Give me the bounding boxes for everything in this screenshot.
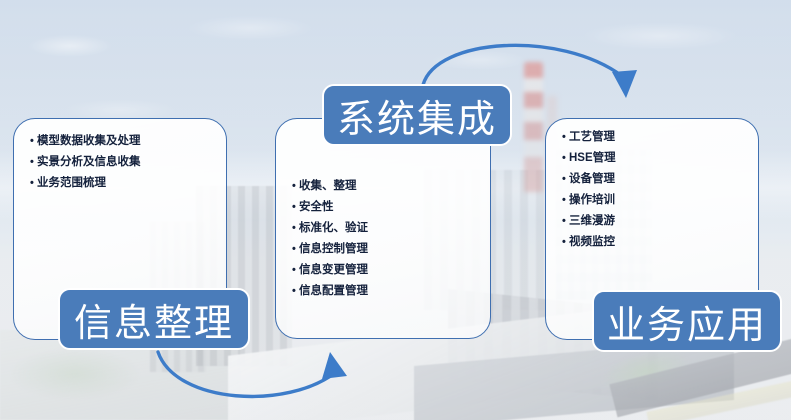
stage-label-business-application[interactable]: 业务应用	[592, 290, 782, 352]
bullet-list-system-integration: 收集、整理 安全性 标准化、验证 信息控制管理 信息变更管理 信息配置管理	[292, 176, 368, 302]
list-item: 视频监控	[562, 232, 616, 253]
list-item: 三维漫游	[562, 211, 616, 232]
bullet-list-information-organization: 模型数据收集及处理 实景分析及信息收集 业务范围梳理	[30, 131, 141, 194]
list-item: 操作培训	[562, 190, 616, 211]
bullet-list-business-application: 工艺管理 HSE管理 设备管理 操作培训 三维漫游 视频监控	[562, 127, 616, 253]
diagram-canvas: 模型数据收集及处理 实景分析及信息收集 业务范围梳理 收集、整理 安全性 标准化…	[0, 0, 791, 420]
stage-label-information-organization[interactable]: 信息整理	[58, 288, 250, 350]
list-item: 安全性	[292, 197, 368, 218]
list-item: 收集、整理	[292, 176, 368, 197]
list-item: 模型数据收集及处理	[30, 131, 141, 152]
list-item: 信息配置管理	[292, 281, 368, 302]
list-item: 工艺管理	[562, 127, 616, 148]
list-item: 实景分析及信息收集	[30, 152, 141, 173]
list-item: 设备管理	[562, 169, 616, 190]
stage-card-system-integration[interactable]: 收集、整理 安全性 标准化、验证 信息控制管理 信息变更管理 信息配置管理	[275, 118, 491, 339]
list-item: 信息变更管理	[292, 260, 368, 281]
stage-label-system-integration[interactable]: 系统集成	[322, 84, 512, 146]
list-item: HSE管理	[562, 148, 616, 169]
list-item: 信息控制管理	[292, 239, 368, 260]
list-item: 业务范围梳理	[30, 173, 141, 194]
list-item: 标准化、验证	[292, 218, 368, 239]
